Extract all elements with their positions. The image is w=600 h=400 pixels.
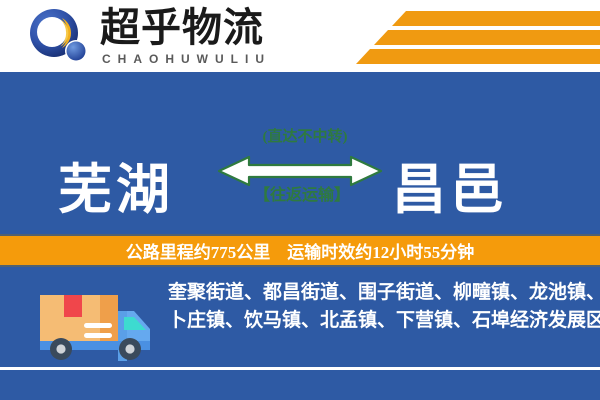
logistics-route-banner: 超乎物流 CHAOHUWULIU 芜湖 (直达不中转) 【往返运输】 昌邑 公路… xyxy=(0,0,600,400)
brand-block: 超乎物流 CHAOHUWULIU xyxy=(100,6,271,66)
banner-header: 超乎物流 CHAOHUWULIU xyxy=(0,0,600,72)
route-note-direct: (直达不中转) xyxy=(250,128,360,146)
header-stripe-3 xyxy=(356,49,600,64)
route-note-roundtrip: 【往返运输】 xyxy=(247,186,357,206)
coverage-section: 奎聚街道、都昌街道、围子街道、柳疃镇、龙池镇、 卜庄镇、饮马镇、北孟镇、下营镇、… xyxy=(0,267,600,367)
brand-name-cn: 超乎物流 xyxy=(100,6,271,50)
footer-area xyxy=(0,370,600,400)
header-stripe-1 xyxy=(392,11,600,26)
metrics-text: 公路里程约775公里 运输时效约12小时55分钟 xyxy=(126,238,475,263)
route-section: 芜湖 (直达不中转) 【往返运输】 昌邑 xyxy=(0,72,600,236)
double-headed-arrow-icon xyxy=(215,154,385,186)
circle-crescent-logo-icon xyxy=(22,8,96,64)
metrics-bar: 公路里程约775公里 运输时效约12小时55分钟 xyxy=(0,236,600,265)
brand-name-en: CHAOHUWULIU xyxy=(100,52,271,66)
destination-city: 昌邑 xyxy=(392,163,508,217)
origin-city: 芜湖 xyxy=(58,163,174,217)
header-stripe-2 xyxy=(374,30,600,45)
coverage-line-2: 卜庄镇、饮马镇、北孟镇、下营镇、石埠经济发展区 xyxy=(168,307,580,335)
coverage-area-list: 奎聚街道、都昌街道、围子街道、柳疃镇、龙池镇、 卜庄镇、饮马镇、北孟镇、下营镇、… xyxy=(168,279,580,335)
delivery-truck-icon xyxy=(28,281,158,361)
coverage-line-1: 奎聚街道、都昌街道、围子街道、柳疃镇、龙池镇、 xyxy=(168,279,580,307)
